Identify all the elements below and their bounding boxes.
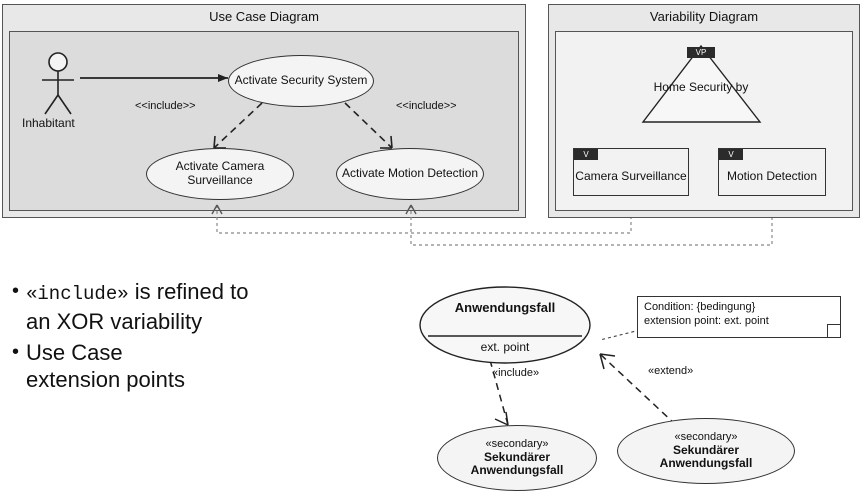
bullet-dot-icon: • <box>12 278 26 304</box>
note-line-2: extension point: ext. point <box>644 315 834 329</box>
secondary-name-line-2: Anwendungsfall <box>660 457 753 471</box>
bullet-dot-icon: • <box>12 339 26 365</box>
edge-label-include: «include» <box>492 367 539 379</box>
secondary-stereotype: «secondary» <box>675 431 738 444</box>
secondary-name-line-1: Sekundärer <box>673 444 739 458</box>
vp-tag: VP <box>687 47 715 58</box>
secondary-name-line-1: Sekundärer <box>484 451 550 465</box>
secondary-use-case-right: «secondary» Sekundärer Anwendungsfall <box>617 418 795 484</box>
edge-label-extend: «extend» <box>648 365 693 377</box>
bullet-list: • «include» is refined to an XOR variabi… <box>12 278 412 397</box>
secondary-use-case-left: «secondary» Sekundärer Anwendungsfall <box>437 425 597 491</box>
bullet-rest: Use Case <box>26 340 123 365</box>
list-item: • «include» is refined to an XOR variabi… <box>12 278 412 335</box>
bullet-text: «include» is refined to an XOR variabili… <box>26 278 248 335</box>
variant-tag-motion: V <box>719 149 743 160</box>
variant-label: Camera Surveillance <box>575 161 686 183</box>
variation-point-name: Home Security by <box>643 80 759 94</box>
variant-label: Motion Detection <box>727 161 817 183</box>
variant-tag-camera: V <box>574 149 598 160</box>
bullet-mono-keyword: «include» <box>26 283 129 305</box>
bullet-rest: is refined to <box>129 279 249 304</box>
primary-use-case-name: Anwendungsfall <box>430 300 580 315</box>
primary-use-case-extension-point: ext. point <box>430 340 580 354</box>
secondary-name-line-2: Anwendungsfall <box>471 464 564 478</box>
bullet-line2: extension points <box>26 367 185 392</box>
note-line-1: Condition: {bedingung} <box>644 301 834 315</box>
bullet-line2: an XOR variability <box>26 309 202 334</box>
note-fold-corner-icon <box>827 324 840 337</box>
list-item: • Use Case extension points <box>12 339 412 393</box>
bullet-text: Use Case extension points <box>26 339 185 393</box>
secondary-stereotype: «secondary» <box>486 438 549 451</box>
condition-note: Condition: {bedingung} extension point: … <box>637 296 841 338</box>
